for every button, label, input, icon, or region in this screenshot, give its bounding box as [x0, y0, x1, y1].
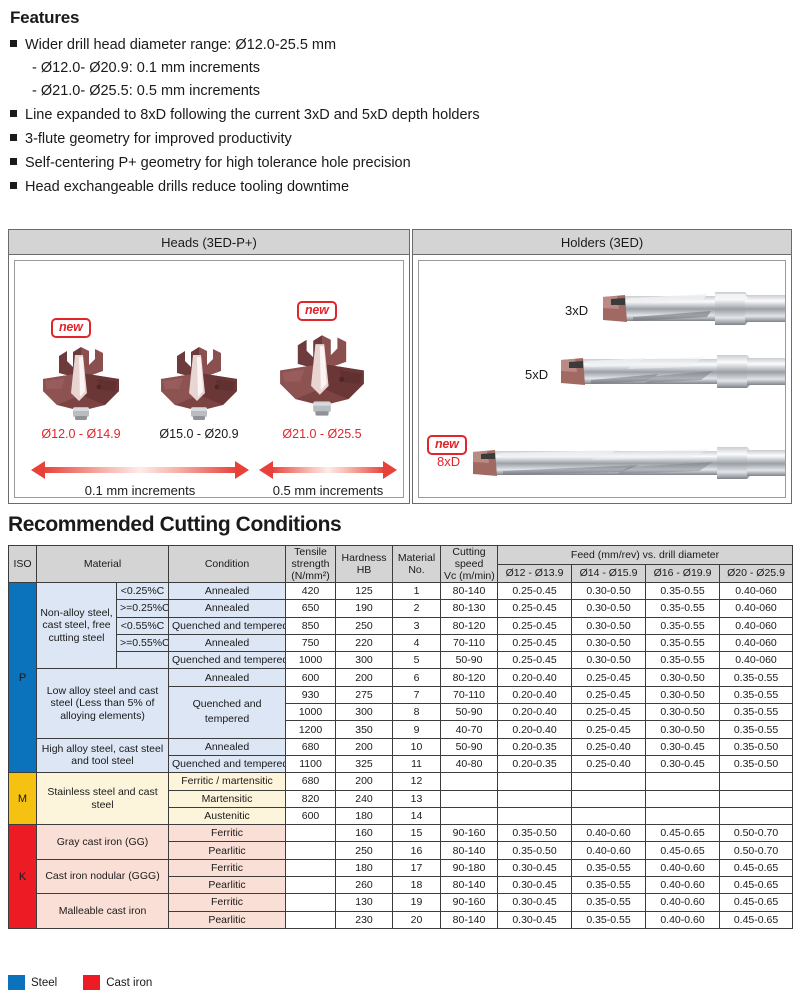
material-no-cell: 14 [393, 807, 441, 824]
table-row: KGray cast iron (GG)Ferritic1601590-1600… [9, 825, 793, 842]
feed-cell-1: 0.20-0.35 [498, 755, 572, 772]
hardness-cell: 230 [336, 911, 393, 928]
feed-cell-3: 0.30-0.50 [646, 704, 720, 721]
table-row: MStainless steel and cast steelFerritic … [9, 773, 793, 790]
feed-cell-4 [720, 773, 793, 790]
increment-arrow-2 [259, 461, 397, 479]
condition-cell: Ferritic / martensitic [169, 773, 286, 790]
hardness-cell: 220 [336, 634, 393, 651]
material-no-cell: 10 [393, 738, 441, 755]
heads-panel: Heads (3ED-P+) new [8, 229, 410, 504]
condition-cell: Quenched and tempered [169, 686, 286, 738]
cutting-speed-cell: 40-70 [441, 721, 498, 738]
table-row: <0.55%CQuenched and tempered850250380-12… [9, 617, 793, 634]
feed-cell-2: 0.40-0.60 [572, 825, 646, 842]
feed-cell-4: 0.45-0.65 [720, 894, 793, 911]
condition-cell: Annealed [169, 600, 286, 617]
tensile-strength-cell [286, 894, 336, 911]
feed-cell-3: 0.30-0.45 [646, 738, 720, 755]
condition-cell: Ferritic [169, 894, 286, 911]
material-cell: Gray cast iron (GG) [37, 825, 169, 860]
tensile-strength-cell: 1000 [286, 704, 336, 721]
feature-item: Head exchangeable drills reduce tooling … [10, 175, 790, 199]
cutting-speed-cell: 80-140 [441, 911, 498, 928]
feed-cell-3: 0.45-0.65 [646, 842, 720, 859]
features-list: Wider drill head diameter range: Ø12.0-2… [10, 33, 790, 199]
material-no-cell: 8 [393, 704, 441, 721]
head-label-3: Ø21.0 - Ø25.5 [259, 427, 385, 441]
tensile-strength-cell: 1000 [286, 652, 336, 669]
holders-panel: Holders (3ED) 3xD [412, 229, 792, 504]
hardness-cell: 180 [336, 807, 393, 824]
condition-cell: Quenched and tempered [169, 755, 286, 772]
col-feed-group: Feed (mm/rev) vs. drill diameter [498, 546, 793, 565]
cutting-speed-cell: 70-110 [441, 686, 498, 703]
condition-cell: Pearlitic [169, 911, 286, 928]
feed-cell-4: 0.40-060 [720, 652, 793, 669]
feed-cell-2: 0.25-0.45 [572, 669, 646, 686]
feed-cell-2: 0.40-0.60 [572, 842, 646, 859]
feed-cell-1: 0.30-0.45 [498, 877, 572, 894]
tensile-strength-cell [286, 825, 336, 842]
feed-cell-4 [720, 790, 793, 807]
feature-item: Line expanded to 8xD following the curre… [10, 103, 790, 127]
cutting-speed-cell: 80-120 [441, 669, 498, 686]
cutting-conditions-table: ISO Material Condition Tensile strength … [8, 545, 793, 929]
head-label-2: Ø15.0 - Ø20.9 [139, 427, 259, 441]
feed-cell-3 [646, 773, 720, 790]
condition-cell: Quenched and tempered [169, 652, 286, 669]
feature-item: 3-flute geometry for improved productivi… [10, 127, 790, 151]
condition-cell: Ferritic [169, 859, 286, 876]
legend-swatch [83, 975, 100, 990]
tensile-strength-cell: 600 [286, 669, 336, 686]
material-cell: Cast iron nodular (GGG) [37, 859, 169, 894]
legend-item: Cast iron [83, 975, 152, 990]
feed-cell-4: 0.50-0.70 [720, 842, 793, 859]
drill-head-icon-1 [31, 345, 131, 423]
condition-cell: Austenitic [169, 807, 286, 824]
feed-cell-1 [498, 790, 572, 807]
increment-caption-2: 0.5 mm increments [253, 483, 403, 498]
feature-text: Wider drill head diameter range: Ø12.0-2… [25, 33, 336, 57]
iso-group-cell: P [9, 583, 37, 773]
table-row: >=0.25%CAnnealed650190280-1300.25-0.450.… [9, 600, 793, 617]
condition-cell: Ferritic [169, 825, 286, 842]
tensile-strength-cell [286, 859, 336, 876]
table-row: Quenched and tempered1000300550-900.25-0… [9, 652, 793, 669]
feed-cell-2: 0.30-0.50 [572, 583, 646, 600]
feed-cell-2: 0.35-0.55 [572, 911, 646, 928]
feed-cell-3: 0.35-0.55 [646, 652, 720, 669]
hardness-cell: 130 [336, 894, 393, 911]
cutting-speed-cell: 90-180 [441, 859, 498, 876]
col-feed-2: Ø14 - Ø15.9 [572, 564, 646, 583]
heads-panel-body: new Ø12.0 - Ø14.9 [9, 255, 409, 503]
feature-text: Self-centering P+ geometry for high tole… [25, 151, 411, 175]
feed-cell-3: 0.30-0.50 [646, 686, 720, 703]
hardness-cell: 180 [336, 859, 393, 876]
carbon-content-cell: >=0.55%C [117, 634, 169, 651]
cutting-speed-cell: 80-140 [441, 877, 498, 894]
condition-cell: Annealed [169, 583, 286, 600]
drill-holder-icon-8xd [469, 437, 785, 489]
cutting-speed-cell: 70-110 [441, 634, 498, 651]
features-title: Features [10, 8, 79, 28]
material-no-cell: 4 [393, 634, 441, 651]
hardness-cell: 300 [336, 652, 393, 669]
bullet-icon [10, 110, 17, 117]
feed-cell-3: 0.40-0.60 [646, 859, 720, 876]
cutting-speed-cell: 80-140 [441, 583, 498, 600]
condition-cell: Pearlitic [169, 842, 286, 859]
cutting-speed-cell: 50-90 [441, 738, 498, 755]
feed-cell-3: 0.35-0.55 [646, 583, 720, 600]
condition-cell: Martensitic [169, 790, 286, 807]
tensile-strength-cell: 930 [286, 686, 336, 703]
hardness-cell: 240 [336, 790, 393, 807]
feed-cell-2: 0.30-0.50 [572, 617, 646, 634]
feed-cell-1: 0.25-0.45 [498, 617, 572, 634]
carbon-content-cell-empty [117, 652, 169, 669]
hardness-cell: 325 [336, 755, 393, 772]
tensile-strength-cell: 420 [286, 583, 336, 600]
hardness-cell: 250 [336, 842, 393, 859]
cutting-speed-cell: 80-130 [441, 600, 498, 617]
drill-head-icon-3 [267, 329, 377, 423]
tensile-strength-cell [286, 877, 336, 894]
table-row: High alloy steel, cast steel and tool st… [9, 738, 793, 755]
feed-cell-2: 0.25-0.40 [572, 738, 646, 755]
feed-cell-3 [646, 790, 720, 807]
hardness-cell: 190 [336, 600, 393, 617]
feed-cell-4: 0.40-060 [720, 617, 793, 634]
feed-cell-2: 0.35-0.55 [572, 877, 646, 894]
head-label-1: Ø12.0 - Ø14.9 [21, 427, 141, 441]
tensile-strength-cell: 750 [286, 634, 336, 651]
feed-cell-3: 0.30-0.50 [646, 669, 720, 686]
material-no-cell: 11 [393, 755, 441, 772]
feed-cell-1: 0.30-0.45 [498, 894, 572, 911]
holder-label-3xd: 3xD [565, 303, 588, 318]
feed-cell-2: 0.25-0.45 [572, 704, 646, 721]
holders-panel-title: Holders (3ED) [413, 230, 791, 255]
feature-text: 3-flute geometry for improved productivi… [25, 127, 292, 151]
table-row: Malleable cast ironFerritic1301990-1600.… [9, 894, 793, 911]
condition-cell: Annealed [169, 738, 286, 755]
feed-cell-3: 0.30-0.45 [646, 755, 720, 772]
tensile-strength-cell: 850 [286, 617, 336, 634]
header-row-1: ISO Material Condition Tensile strength … [9, 546, 793, 565]
material-cell: High alloy steel, cast steel and tool st… [37, 738, 169, 773]
tensile-strength-cell [286, 911, 336, 928]
legend-swatch [8, 975, 25, 990]
drill-holder-icon-3xd [595, 283, 785, 335]
feed-cell-1 [498, 807, 572, 824]
hardness-cell: 300 [336, 704, 393, 721]
feature-subitem: - Ø21.0- Ø25.5: 0.5 mm increments [32, 80, 790, 103]
feed-cell-4: 0.40-060 [720, 634, 793, 651]
feed-cell-3 [646, 807, 720, 824]
tensile-strength-cell: 820 [286, 790, 336, 807]
material-no-cell: 20 [393, 911, 441, 928]
cutting-speed-cell: 80-120 [441, 617, 498, 634]
table-row: PNon-alloy steel, cast steel, free cutti… [9, 583, 793, 600]
material-no-cell: 16 [393, 842, 441, 859]
hardness-cell: 250 [336, 617, 393, 634]
carbon-content-cell: >=0.25%C [117, 600, 169, 617]
feed-cell-4: 0.35-0.55 [720, 686, 793, 703]
feed-cell-4: 0.50-0.70 [720, 825, 793, 842]
cutting-speed-cell: 50-90 [441, 704, 498, 721]
feature-item: Wider drill head diameter range: Ø12.0-2… [10, 33, 790, 57]
feed-cell-2: 0.25-0.45 [572, 686, 646, 703]
heads-panel-title: Heads (3ED-P+) [9, 230, 409, 255]
material-no-cell: 19 [393, 894, 441, 911]
feed-cell-4: 0.35-0.55 [720, 704, 793, 721]
bullet-icon [10, 182, 17, 189]
increment-arrow-1 [31, 461, 249, 479]
feature-text: Line expanded to 8xD following the curre… [25, 103, 480, 127]
feed-cell-2 [572, 807, 646, 824]
condition-cell: Annealed [169, 634, 286, 651]
col-feed-3: Ø16 - Ø19.9 [646, 564, 720, 583]
legend-label: Cast iron [106, 977, 152, 989]
hardness-cell: 350 [336, 721, 393, 738]
product-panels: Heads (3ED-P+) new [8, 229, 792, 504]
material-no-cell: 17 [393, 859, 441, 876]
feed-cell-4 [720, 807, 793, 824]
feed-cell-4: 0.45-0.65 [720, 859, 793, 876]
legend: SteelCast iron [8, 975, 170, 990]
feed-cell-1: 0.25-0.45 [498, 652, 572, 669]
condition-cell: Annealed [169, 669, 286, 686]
feed-cell-1 [498, 773, 572, 790]
material-no-cell: 5 [393, 652, 441, 669]
feed-cell-2 [572, 790, 646, 807]
legend-label: Steel [31, 977, 57, 989]
feed-cell-1: 0.25-0.45 [498, 634, 572, 651]
feed-cell-2: 0.30-0.50 [572, 652, 646, 669]
material-no-cell: 7 [393, 686, 441, 703]
feed-cell-1: 0.35-0.50 [498, 842, 572, 859]
col-tensile-strength: Tensile strength (N/mm²) [286, 546, 336, 583]
new-badge-holder-8xd: new [427, 435, 467, 455]
cutting-speed-cell: 80-140 [441, 842, 498, 859]
material-no-cell: 13 [393, 790, 441, 807]
hardness-cell: 200 [336, 669, 393, 686]
material-no-cell: 6 [393, 669, 441, 686]
material-no-cell: 12 [393, 773, 441, 790]
table-row: Cast iron nodular (GGG)Ferritic1801790-1… [9, 859, 793, 876]
feed-cell-4: 0.40-060 [720, 583, 793, 600]
col-feed-4: Ø20 - Ø25.9 [720, 564, 793, 583]
bullet-icon [10, 134, 17, 141]
feed-cell-4: 0.35-0.55 [720, 669, 793, 686]
condition-cell: Pearlitic [169, 877, 286, 894]
holder-label-8xd: 8xD [437, 454, 460, 469]
hardness-cell: 125 [336, 583, 393, 600]
tensile-strength-cell: 1200 [286, 721, 336, 738]
feed-cell-1: 0.20-0.40 [498, 686, 572, 703]
drill-holder-icon-5xd [555, 345, 785, 399]
feed-cell-1: 0.30-0.45 [498, 911, 572, 928]
table-head: ISO Material Condition Tensile strength … [9, 546, 793, 583]
feed-cell-3: 0.40-0.60 [646, 911, 720, 928]
col-iso: ISO [9, 546, 37, 583]
material-cell: Non-alloy steel, cast steel, free cuttin… [37, 583, 117, 669]
feature-subitem: - Ø12.0- Ø20.9: 0.1 mm increments [32, 57, 790, 80]
col-material: Material [37, 546, 169, 583]
feed-cell-1: 0.20-0.40 [498, 721, 572, 738]
col-cutting-speed: Cutting speed Vc (m/min) [441, 546, 498, 583]
feed-cell-4: 0.35-0.50 [720, 738, 793, 755]
drill-head-icon-2 [149, 345, 249, 423]
feed-cell-4: 0.45-0.65 [720, 911, 793, 928]
feature-text: Head exchangeable drills reduce tooling … [25, 175, 349, 199]
material-no-cell: 9 [393, 721, 441, 738]
tensile-strength-cell: 680 [286, 773, 336, 790]
feed-cell-2: 0.30-0.50 [572, 634, 646, 651]
material-no-cell: 3 [393, 617, 441, 634]
feature-item: Self-centering P+ geometry for high tole… [10, 151, 790, 175]
feed-cell-3: 0.35-0.55 [646, 634, 720, 651]
feed-cell-1: 0.25-0.45 [498, 583, 572, 600]
cutting-speed-cell [441, 790, 498, 807]
feed-cell-1: 0.20-0.35 [498, 738, 572, 755]
feed-cell-3: 0.35-0.55 [646, 617, 720, 634]
feed-cell-3: 0.30-0.50 [646, 721, 720, 738]
tensile-strength-cell: 680 [286, 738, 336, 755]
col-material-no: Material No. [393, 546, 441, 583]
table-row: >=0.55%CAnnealed750220470-1100.25-0.450.… [9, 634, 793, 651]
material-cell: Low alloy steel and cast steel (Less tha… [37, 669, 169, 738]
cutting-conditions-title: Recommended Cutting Conditions [8, 513, 341, 537]
legend-item: Steel [8, 975, 57, 990]
cutting-speed-cell: 50-90 [441, 652, 498, 669]
new-badge-head-3: new [297, 301, 337, 321]
bullet-icon [10, 158, 17, 165]
cutting-speed-cell: 90-160 [441, 825, 498, 842]
carbon-content-cell: <0.55%C [117, 617, 169, 634]
tensile-strength-cell: 600 [286, 807, 336, 824]
holders-panel-body: 3xD 5xD [413, 255, 791, 503]
cutting-speed-cell [441, 807, 498, 824]
material-cell: Malleable cast iron [37, 894, 169, 929]
feed-cell-2: 0.35-0.55 [572, 859, 646, 876]
material-no-cell: 1 [393, 583, 441, 600]
col-condition: Condition [169, 546, 286, 583]
iso-group-cell: K [9, 825, 37, 929]
material-no-cell: 2 [393, 600, 441, 617]
feed-cell-3: 0.40-0.60 [646, 894, 720, 911]
feed-cell-3: 0.40-0.60 [646, 877, 720, 894]
material-no-cell: 18 [393, 877, 441, 894]
feed-cell-3: 0.45-0.65 [646, 825, 720, 842]
bullet-icon [10, 40, 17, 47]
tensile-strength-cell: 650 [286, 600, 336, 617]
table-body: PNon-alloy steel, cast steel, free cutti… [9, 583, 793, 929]
feed-cell-2: 0.25-0.45 [572, 721, 646, 738]
holder-label-5xd: 5xD [525, 367, 548, 382]
hardness-cell: 200 [336, 773, 393, 790]
cutting-speed-cell: 90-160 [441, 894, 498, 911]
feed-cell-1: 0.30-0.45 [498, 859, 572, 876]
iso-group-cell: M [9, 773, 37, 825]
condition-cell: Quenched and tempered [169, 617, 286, 634]
table-row: Low alloy steel and cast steel (Less tha… [9, 669, 793, 686]
cutting-speed-cell: 40-80 [441, 755, 498, 772]
col-hardness: Hardness HB [336, 546, 393, 583]
feed-cell-2: 0.30-0.50 [572, 600, 646, 617]
feed-cell-3: 0.35-0.55 [646, 600, 720, 617]
hardness-cell: 275 [336, 686, 393, 703]
new-badge-head-1: new [51, 318, 91, 338]
tensile-strength-cell [286, 842, 336, 859]
carbon-content-cell: <0.25%C [117, 583, 169, 600]
feed-cell-1: 0.20-0.40 [498, 704, 572, 721]
hardness-cell: 160 [336, 825, 393, 842]
increment-caption-1: 0.1 mm increments [31, 483, 249, 498]
feed-cell-2 [572, 773, 646, 790]
feed-cell-2: 0.25-0.40 [572, 755, 646, 772]
material-cell: Stainless steel and cast steel [37, 773, 169, 825]
hardness-cell: 200 [336, 738, 393, 755]
feed-cell-4: 0.35-0.50 [720, 755, 793, 772]
feed-cell-4: 0.40-060 [720, 600, 793, 617]
feed-cell-1: 0.25-0.45 [498, 600, 572, 617]
feed-cell-1: 0.35-0.50 [498, 825, 572, 842]
feed-cell-2: 0.35-0.55 [572, 894, 646, 911]
col-feed-1: Ø12 - Ø13.9 [498, 564, 572, 583]
tensile-strength-cell: 1100 [286, 755, 336, 772]
feed-cell-4: 0.45-0.65 [720, 877, 793, 894]
cutting-speed-cell [441, 773, 498, 790]
hardness-cell: 260 [336, 877, 393, 894]
feed-cell-1: 0.20-0.40 [498, 669, 572, 686]
material-no-cell: 15 [393, 825, 441, 842]
feed-cell-4: 0.35-0.55 [720, 721, 793, 738]
